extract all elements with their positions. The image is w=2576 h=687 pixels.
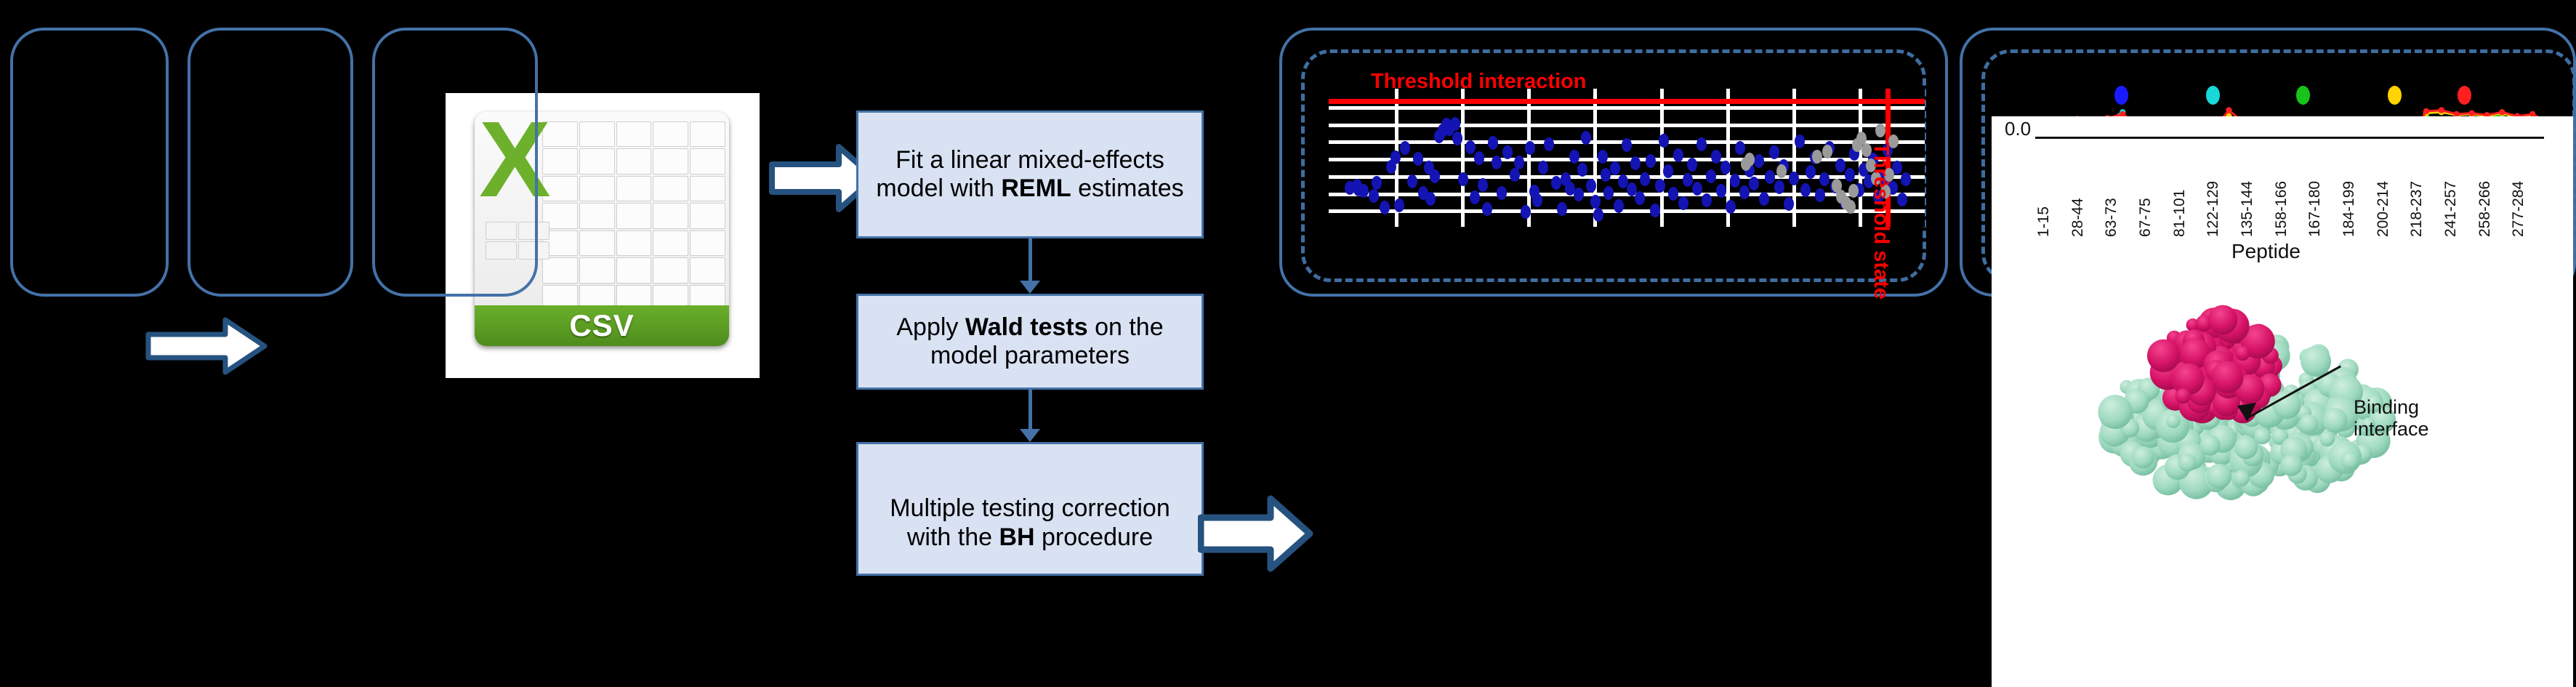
step-connector-1: [1029, 238, 1032, 281]
scatter-point: [1465, 140, 1476, 154]
scatter-point: [1532, 193, 1542, 207]
peptide-axis-ticks: 1-1528-4463-7367-7581-101122-129135-1441…: [2035, 142, 2544, 237]
step-3-bold: BH: [999, 523, 1034, 551]
peptide-tick-label: 81-101: [2171, 142, 2205, 237]
scatter-point: [1692, 182, 1702, 196]
scatter-point: [1452, 132, 1462, 145]
step-2-prefix: Apply: [896, 313, 965, 341]
legend-dot: [2388, 86, 2402, 105]
arrow-steps-to-threshold: [1198, 490, 1314, 577]
peptide-tick-label: 1-15: [2035, 142, 2069, 237]
scatter-point: [1544, 137, 1554, 151]
surface-blob: [2254, 428, 2271, 445]
scatter-point: [1776, 164, 1787, 178]
surface-blob: [2207, 464, 2231, 489]
peptide-tick-label: 28-44: [2069, 142, 2104, 237]
scatter-point: [1659, 134, 1669, 148]
scatter-point: [1901, 172, 1911, 186]
scatter-point: [1478, 178, 1488, 192]
legend-dot: [2296, 86, 2310, 105]
scatter-point: [1875, 124, 1885, 137]
surface-blob: [2173, 363, 2205, 395]
legend-dot: [2206, 86, 2220, 105]
scatter-point: [1739, 185, 1750, 199]
step-1-bold: REML: [1001, 174, 1071, 202]
scatter-point: [1458, 172, 1468, 186]
scatter-point: [1359, 184, 1369, 198]
surface-blob: [2234, 435, 2258, 459]
protein-structure-image: [2028, 280, 2508, 527]
csv-format-banner: CSV: [475, 305, 729, 346]
binding-interface-arrowhead: [2237, 401, 2262, 426]
step-box-1[interactable]: Fit a linear mixed-effects model with RE…: [856, 111, 1204, 238]
peptide-tick-label: 241-257: [2442, 142, 2476, 237]
surface-blob: [2208, 305, 2238, 335]
step-1-suffix: estimates: [1071, 174, 1184, 202]
surface-blob: [2175, 388, 2191, 403]
scatter-point: [1470, 190, 1480, 204]
scatter-point: [1702, 193, 1712, 207]
scatter-point: [1598, 150, 1608, 164]
scatter-point: [1822, 145, 1832, 158]
scatter-point: [1668, 187, 1678, 201]
scatter-point: [1765, 170, 1775, 184]
step-box-3[interactable]: Multiple testing correction with the BH …: [856, 442, 1204, 576]
step-3-suffix: procedure: [1035, 523, 1154, 551]
scatter-point: [1557, 202, 1567, 216]
surface-blob: [2211, 361, 2243, 393]
step-2-text: Apply Wald tests on the model parameters: [864, 313, 1196, 370]
scatter-point: [1687, 158, 1697, 172]
scatter-point: [1819, 172, 1830, 186]
scatter-point: [1774, 180, 1784, 194]
data-panel: [188, 28, 353, 297]
scatter-point: [1622, 138, 1632, 152]
binding-interface-line2: interface: [2354, 418, 2429, 440]
scatter-point: [1806, 165, 1816, 179]
surface-blob: [2178, 454, 2197, 472]
peptide-tick-label: 67-75: [2137, 142, 2171, 237]
scatter-point: [1577, 163, 1587, 177]
peptide-tick-label: 218-237: [2408, 142, 2442, 237]
scatter-point: [1735, 141, 1745, 155]
surface-blob: [2098, 395, 2132, 429]
scatter-point: [1650, 204, 1660, 217]
surface-blob: [2147, 340, 2180, 372]
arrow-input-to-csv: [145, 316, 269, 377]
scatter-point: [1848, 184, 1859, 198]
scatter-point: [1474, 151, 1484, 165]
scatter-point: [1581, 131, 1591, 145]
scatter-point: [1800, 183, 1811, 197]
binding-interface-line1: Binding: [2354, 396, 2429, 418]
csv-spreadsheet-grid: [542, 121, 726, 311]
peptide-tick-label: 167-180: [2306, 142, 2340, 237]
scatter-point: [1759, 192, 1769, 206]
surface-blob: [2280, 454, 2302, 476]
scatter-point: [1655, 179, 1665, 193]
scatter-point: [1497, 186, 1507, 200]
peptide-tick-label: 184-199: [2340, 142, 2375, 237]
surface-blob: [2341, 451, 2359, 470]
peptide-tick-label: 122-129: [2205, 142, 2239, 237]
surface-blob: [2235, 346, 2250, 361]
scatter-point: [1492, 156, 1502, 169]
scatter-point: [1673, 148, 1683, 162]
y-axis-zero-tick: 0.0: [2005, 118, 2031, 140]
scatter-point: [1590, 195, 1601, 209]
scatter-point: [1372, 176, 1382, 190]
scatter-point: [1551, 176, 1561, 190]
scatter-point: [1574, 188, 1584, 201]
scatter-point: [1586, 179, 1596, 193]
peptide-tick-label: 200-214: [2375, 142, 2409, 237]
scatter-point: [1635, 191, 1645, 205]
scatter-point: [1593, 208, 1603, 222]
scatter-point: [1413, 152, 1423, 166]
peptide-tick-label: 258-266: [2476, 142, 2511, 237]
threshold-scatter-plot: [1329, 89, 1925, 227]
step-connector-1-arrowhead: [1020, 281, 1040, 294]
scatter-point: [1716, 184, 1726, 198]
scatter-point: [1488, 136, 1498, 150]
legend-dot: [2114, 86, 2128, 105]
scatter-point: [1683, 173, 1693, 187]
analysis-panel: [372, 28, 538, 297]
scatter-point: [1789, 172, 1799, 185]
scatter-point: [1812, 150, 1822, 164]
scatter-point: [1603, 186, 1614, 200]
scatter-point: [1502, 145, 1513, 159]
scatter-point: [1706, 169, 1716, 183]
scatter-point: [1730, 174, 1740, 188]
surface-blob: [2234, 470, 2250, 486]
scatter-point: [1815, 188, 1825, 202]
surface-blob: [2132, 446, 2154, 469]
peptide-tick-label: 135-144: [2239, 142, 2273, 237]
scatter-point: [1425, 192, 1436, 206]
scatter-point: [1400, 141, 1410, 155]
scatter-point: [1407, 174, 1417, 188]
surface-blob: [2166, 414, 2180, 428]
step-box-2[interactable]: Apply Wald tests on the model parameters: [856, 294, 1204, 390]
scatter-point: [1835, 158, 1846, 172]
scatter-point: [1720, 161, 1731, 174]
csv-format-label: CSV: [569, 308, 634, 343]
step-2-bold: Wald tests: [965, 313, 1088, 341]
scatter-point: [1696, 137, 1707, 151]
scatter-point: [1749, 177, 1759, 190]
scatter-point: [1769, 145, 1779, 159]
peptide-tick-label: 277-284: [2510, 142, 2544, 237]
scatter-point: [1726, 200, 1736, 214]
scatter-point: [1510, 168, 1520, 182]
scatter-point: [1482, 202, 1492, 216]
surface-blob: [2200, 435, 2221, 456]
step-3-text: Multiple testing correction with the BH …: [890, 466, 1170, 551]
scatter-point: [1845, 168, 1855, 182]
scatter-point: [1663, 164, 1673, 178]
legend-dot: [2458, 86, 2471, 105]
scatter-points-layer: [1329, 89, 1925, 227]
scatter-point: [1450, 117, 1460, 131]
scatter-point: [1514, 156, 1524, 169]
peptide-axis-line: [2035, 137, 2544, 139]
scatter-point: [1614, 199, 1624, 213]
scatter-point: [1369, 189, 1379, 203]
scatter-point: [1711, 150, 1721, 164]
scatter-point: [1744, 153, 1755, 166]
binding-interface-label: Binding interface: [2354, 396, 2429, 440]
scatter-point: [1630, 156, 1641, 170]
scatter-point: [1521, 205, 1531, 219]
scatter-point: [1754, 154, 1764, 168]
scatter-point: [1610, 161, 1620, 175]
scatter-point: [1640, 172, 1650, 186]
scatter-point: [1646, 154, 1656, 168]
peptide-tick-label: 158-166: [2273, 142, 2307, 237]
surface-blob: [2299, 414, 2318, 433]
scatter-point: [1678, 196, 1689, 210]
scatter-point: [1538, 161, 1548, 174]
peptide-axis-title: Peptide: [2231, 240, 2301, 263]
input-panel: [10, 28, 169, 297]
peptide-tick-label: 63-73: [2103, 142, 2137, 237]
step-connector-2-arrowhead: [1020, 429, 1040, 442]
scatter-point: [1525, 141, 1535, 155]
scatter-point: [1795, 134, 1805, 148]
step-1-text: Fit a linear mixed-effects model with RE…: [864, 146, 1196, 203]
threshold-state-label: Threshold state: [1869, 142, 1893, 300]
scatter-point: [1430, 169, 1440, 183]
surface-blob: [2322, 408, 2347, 433]
surface-blob: [2319, 431, 2335, 446]
scatter-point: [1784, 197, 1794, 211]
scatter-point: [1569, 150, 1579, 164]
scatter-point: [1380, 201, 1390, 214]
scatter-point: [1897, 193, 1907, 206]
step-connector-2: [1029, 390, 1032, 429]
scatter-point: [1394, 198, 1404, 212]
scatter-point: [1846, 200, 1856, 214]
scatter-point: [1390, 150, 1401, 164]
